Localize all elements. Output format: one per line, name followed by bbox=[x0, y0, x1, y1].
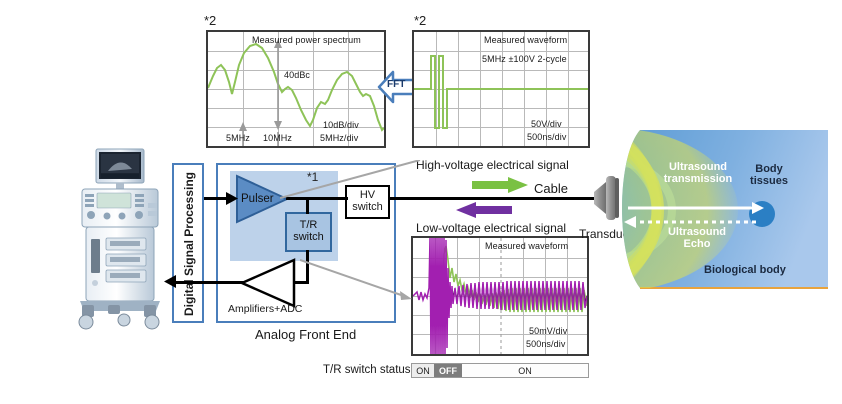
wire-node-to-tr-switch bbox=[306, 197, 309, 214]
hv-measured-waveform-panel: Measured waveform 5MHz ±100V 2-cycle 50V… bbox=[412, 30, 590, 148]
transmit-arrow-green bbox=[472, 177, 528, 193]
hv-waveform-horizontal-scale: 500ns/div bbox=[527, 132, 566, 142]
hv-switch-label-line2: switch bbox=[352, 202, 383, 214]
lv-waveform-purple-trace bbox=[413, 238, 587, 354]
wire-pulser-output bbox=[286, 197, 348, 200]
lv-waveform-vertical-scale: 50mV/div bbox=[529, 326, 567, 336]
ultrasound-echo-line2: Echo bbox=[642, 238, 752, 250]
wire-dsp-to-pulser-arrow bbox=[226, 192, 238, 205]
body-tissues-line1: Body bbox=[736, 163, 802, 175]
measured-power-spectrum-panel: Measured power spectrum 40dBc 5MHz 10MHz… bbox=[206, 30, 386, 148]
cable-label: Cable bbox=[534, 181, 568, 196]
hv-switch-block: HV switch bbox=[345, 185, 390, 219]
power-spectrum-tick-10mhz: 10MHz bbox=[263, 133, 292, 143]
fft-label: FFT bbox=[387, 79, 405, 90]
body-tissues-label: Body tissues bbox=[736, 163, 802, 187]
low-voltage-signal-label: Low-voltage electrical signal bbox=[416, 221, 566, 235]
lv-waveform-title: Measured waveform bbox=[485, 241, 568, 251]
ultrasound-echo-line1: Ultrasound bbox=[642, 226, 752, 238]
status-segment-on-initial: ON bbox=[412, 364, 434, 377]
power-spectrum-horizontal-scale: 5MHz/div bbox=[320, 133, 358, 143]
pulser-star-marker: *1 bbox=[307, 170, 318, 184]
receive-arrow-purple bbox=[456, 202, 512, 218]
body-tissues-line2: tissues bbox=[736, 175, 802, 187]
tr-switch-label-line2: switch bbox=[293, 232, 324, 244]
wire-amplifier-input bbox=[293, 281, 309, 284]
lv-waveform-horizontal-scale: 500ns/div bbox=[526, 339, 565, 349]
power-spectrum-40dbc-label: 40dBc bbox=[284, 70, 310, 80]
hv-waveform-params: 5MHz ±100V 2-cycle bbox=[482, 54, 567, 64]
ultrasound-echo-label: Ultrasound Echo bbox=[642, 226, 752, 250]
wire-amplifier-to-dsp bbox=[204, 281, 244, 284]
biological-body-label: Biological body bbox=[704, 264, 786, 276]
biological-body-illustration: Ultrasound transmission Ultrasound Echo … bbox=[610, 130, 828, 290]
wire-hv-switch-to-cable bbox=[388, 197, 601, 200]
ultrasound-machine-illustration bbox=[64, 143, 176, 335]
hv-waveform-star-marker: *2 bbox=[414, 13, 426, 28]
status-segment-on-main: ON bbox=[462, 364, 588, 377]
tr-switch-status-bar: ON OFF ON bbox=[411, 363, 589, 378]
wire-tr-switch-to-amplifier bbox=[306, 250, 309, 283]
status-segment-off: OFF bbox=[434, 364, 462, 377]
power-spectrum-star-marker: *2 bbox=[204, 13, 216, 28]
hv-switch-label: HV switch bbox=[352, 190, 383, 213]
tr-switch-status-label: T/R switch status bbox=[323, 364, 411, 376]
power-spectrum-tick-5mhz: 5MHz bbox=[226, 133, 250, 143]
tr-switch-block: T/R switch bbox=[285, 212, 332, 252]
pulser-label: Pulser bbox=[241, 193, 274, 205]
amplifiers-adc-label: Amplifiers+ADC bbox=[228, 303, 302, 315]
tr-switch-label: T/R switch bbox=[293, 220, 324, 243]
wire-dsp-output-to-machine bbox=[174, 281, 204, 284]
amplifiers-adc-block bbox=[238, 258, 296, 308]
analog-front-end-label: Analog Front End bbox=[255, 327, 356, 342]
power-spectrum-vertical-scale: 10dB/div bbox=[323, 120, 359, 130]
power-spectrum-title: Measured power spectrum bbox=[252, 35, 361, 45]
lv-measured-waveform-panel: Measured waveform 50mV/div 500ns/div bbox=[411, 236, 589, 356]
digital-signal-processing-label: Digital Signal Processing bbox=[182, 172, 196, 316]
hv-waveform-vertical-scale: 50V/div bbox=[531, 119, 562, 129]
hv-waveform-title: Measured waveform bbox=[484, 35, 567, 45]
high-voltage-signal-label: High-voltage electrical signal bbox=[416, 158, 569, 172]
